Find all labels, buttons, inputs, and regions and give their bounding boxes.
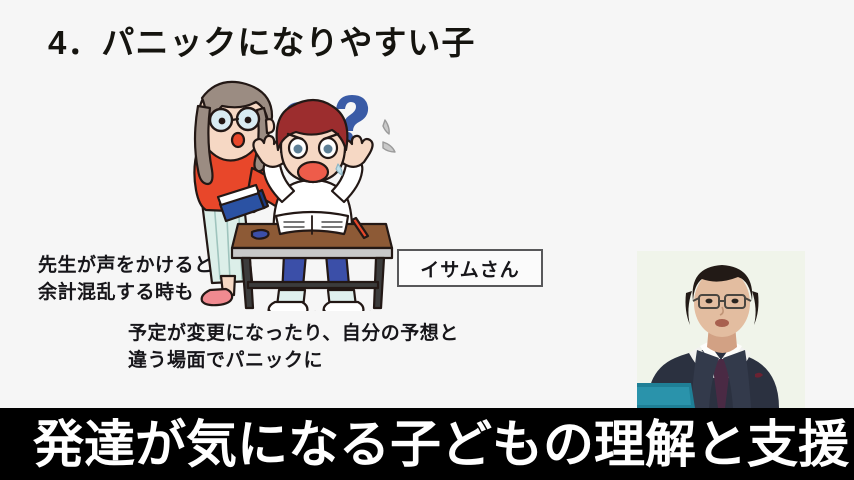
program-title-banner: 発達が気になる子どもの理解と支援: [0, 408, 854, 480]
video-slide-screen: 4．パニックになりやすい子: [0, 0, 854, 480]
character-name-label: イサムさん: [420, 255, 520, 282]
left-caption-line-1: 先生が声をかけると: [38, 252, 214, 279]
left-caption: 先生が声をかけると 余計混乱する時も: [38, 252, 214, 306]
bottom-caption-line-2: 違う場面でパニックに: [128, 347, 459, 374]
teacher-and-panicking-child-illustration: [180, 76, 410, 311]
slide-area: 4．パニックになりやすい子: [0, 0, 854, 408]
bottom-caption: 予定が変更になったり、自分の予想と 違う場面でパニックに: [128, 320, 459, 374]
character-name-box: イサムさん: [397, 249, 543, 287]
page-title: 4．パニックになりやすい子: [48, 16, 475, 64]
presenter-video[interactable]: [637, 251, 805, 408]
program-title-text: 発達が気になる子どもの理解と支援: [33, 414, 849, 476]
bottom-caption-line-1: 予定が変更になったり、自分の予想と: [128, 320, 459, 347]
left-caption-line-2: 余計混乱する時も: [38, 279, 214, 306]
